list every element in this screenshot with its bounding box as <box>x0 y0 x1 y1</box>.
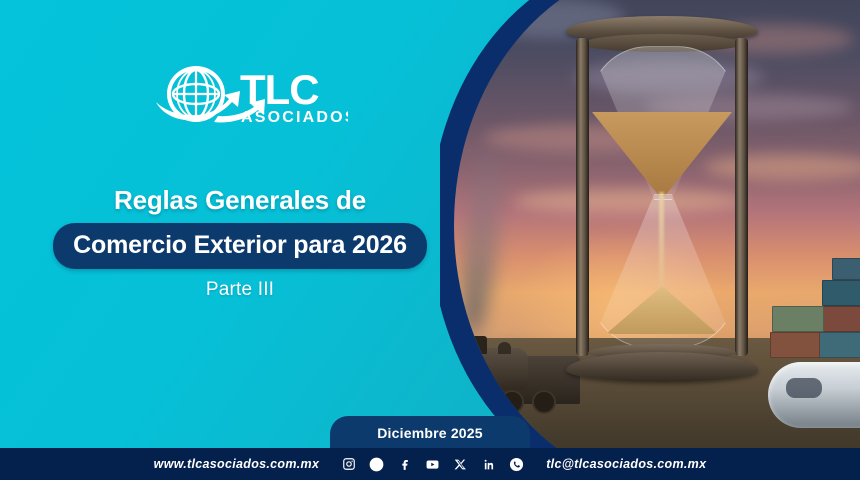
container-icon <box>818 332 860 358</box>
whatsapp-icon[interactable] <box>509 457 524 472</box>
tlc-asociados-logo: TLC ASOCIADOS <box>152 58 348 140</box>
hourglass-upper-sand <box>592 112 732 196</box>
logo-wordmark: TLC ASOCIADOS <box>240 66 348 126</box>
locomotive-dome <box>498 342 511 354</box>
x-twitter-icon[interactable] <box>453 457 468 472</box>
container-icon <box>772 306 824 332</box>
container-icon <box>822 280 860 306</box>
title-line-1: Reglas Generales de <box>0 186 480 216</box>
hourglass-graphic <box>562 16 762 382</box>
youtube-icon[interactable] <box>425 457 440 472</box>
silver-trailer <box>768 362 860 428</box>
svg-text:ASOCIADOS: ASOCIADOS <box>241 109 348 126</box>
sunset-sky-photo <box>454 0 860 448</box>
promo-banner: TLC ASOCIADOS Reglas Generales de Comerc… <box>0 0 860 480</box>
artwork-panel <box>440 0 860 448</box>
pinterest-icon[interactable] <box>369 457 384 472</box>
date-tab: Diciembre 2025 <box>330 416 530 450</box>
locomotive-wheel <box>532 390 556 414</box>
container-icon <box>822 306 860 332</box>
website-url[interactable]: www.tlcasociados.com.mx <box>154 457 320 471</box>
title-block: Reglas Generales de Comercio Exterior pa… <box>0 186 480 301</box>
container-icon <box>770 332 820 358</box>
locomotive-wheel <box>472 390 496 414</box>
hourglass-base <box>566 352 758 382</box>
linkedin-icon[interactable] <box>481 457 496 472</box>
title-highlight-pill: Comercio Exterior para 2026 <box>53 223 427 269</box>
title-subtitle: Parte III <box>0 279 480 301</box>
svg-text:TLC: TLC <box>240 66 319 113</box>
trailer-window <box>786 378 822 398</box>
artwork-clip <box>454 0 860 448</box>
social-links <box>341 457 524 472</box>
hourglass-post <box>576 38 589 356</box>
locomotive-wheel <box>500 390 524 414</box>
facebook-icon[interactable] <box>397 457 412 472</box>
hourglass-post <box>735 38 748 356</box>
container-icon <box>832 258 860 280</box>
contact-email[interactable]: tlc@tlcasociados.com.mx <box>546 457 706 471</box>
footer-bar: www.tlcasociados.com.mx <box>0 448 860 480</box>
locomotive-smokestack <box>472 336 487 354</box>
locomotive-boiler <box>464 348 528 390</box>
instagram-icon[interactable] <box>341 457 356 472</box>
